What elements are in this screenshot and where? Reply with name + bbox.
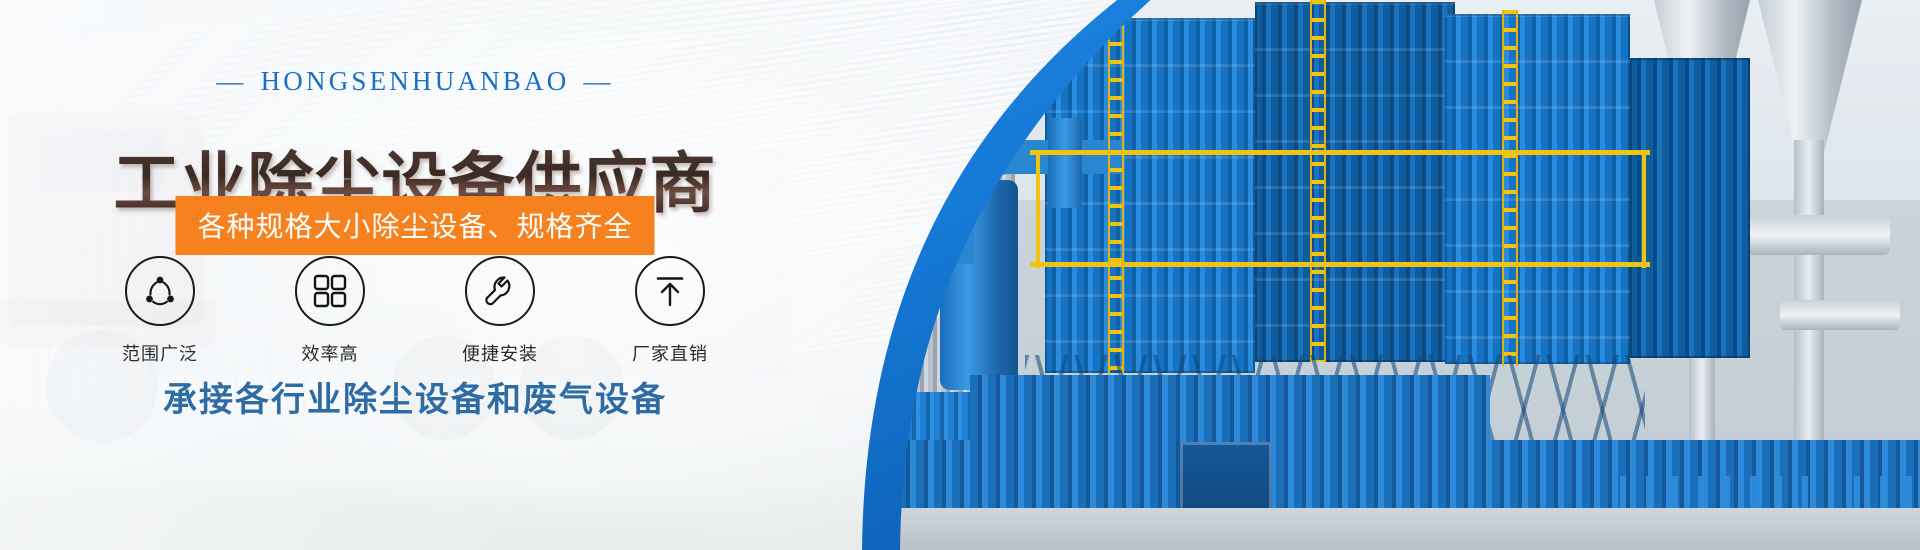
feature-item-range[interactable]: 范围广泛 bbox=[108, 256, 212, 366]
hero-content: —HONGSENHUANBAO— 工业除尘设备供应商 各种规格大小除尘设备、规格… bbox=[0, 0, 830, 550]
yellow-ladder bbox=[1502, 10, 1518, 366]
vertical-pipe bbox=[1794, 140, 1824, 440]
feature-label: 厂家直销 bbox=[632, 340, 708, 366]
baghouse-module bbox=[1255, 2, 1455, 362]
yellow-post bbox=[1642, 150, 1646, 268]
grid-four-squares-icon bbox=[295, 256, 365, 326]
up-arrow-icon bbox=[635, 256, 705, 326]
up-arrow-glyph bbox=[651, 272, 689, 310]
eyebrow-brand: —HONGSENHUANBAO— bbox=[0, 66, 830, 97]
network-nodes-icon bbox=[125, 256, 195, 326]
feature-label: 范围广泛 bbox=[122, 340, 198, 366]
yellow-handrail bbox=[1030, 150, 1650, 155]
network-nodes-glyph bbox=[140, 271, 180, 311]
baghouse-module bbox=[1630, 58, 1750, 358]
baghouse-module bbox=[1445, 14, 1630, 364]
feature-label: 效率高 bbox=[302, 340, 359, 366]
highlight-bar-text: 各种规格大小除尘设备、规格齐全 bbox=[197, 210, 632, 243]
yellow-ladder bbox=[1108, 6, 1124, 374]
hero-banner: —HONGSENHUANBAO— 工业除尘设备供应商 各种规格大小除尘设备、规格… bbox=[0, 0, 1920, 550]
duct-riser bbox=[1048, 118, 1082, 208]
horizontal-pipe bbox=[1780, 300, 1900, 330]
feature-label: 便捷安装 bbox=[462, 340, 538, 366]
yellow-ladder bbox=[1310, 0, 1326, 362]
photo-ground bbox=[790, 508, 1920, 550]
grid-four-squares-glyph bbox=[312, 273, 348, 309]
eyebrow-dash-right: — bbox=[583, 66, 613, 97]
yellow-post bbox=[1036, 150, 1040, 268]
feature-list: 范围广泛 效率高 bbox=[0, 256, 830, 366]
wrench-glyph bbox=[480, 271, 520, 311]
highlight-bar: 各种规格大小除尘设备、规格齐全 bbox=[175, 196, 654, 255]
tagline: 承接各行业除尘设备和废气设备 bbox=[0, 372, 830, 421]
yellow-handrail bbox=[1030, 262, 1650, 267]
eyebrow-text: HONGSENHUANBAO bbox=[261, 66, 570, 96]
feature-item-direct-sales[interactable]: 厂家直销 bbox=[618, 256, 722, 366]
feature-item-installation[interactable]: 便捷安装 bbox=[448, 256, 552, 366]
eyebrow-dash-left: — bbox=[216, 66, 246, 97]
feature-item-efficiency[interactable]: 效率高 bbox=[278, 256, 382, 366]
wrench-icon bbox=[465, 256, 535, 326]
horizontal-pipe bbox=[1740, 215, 1890, 255]
